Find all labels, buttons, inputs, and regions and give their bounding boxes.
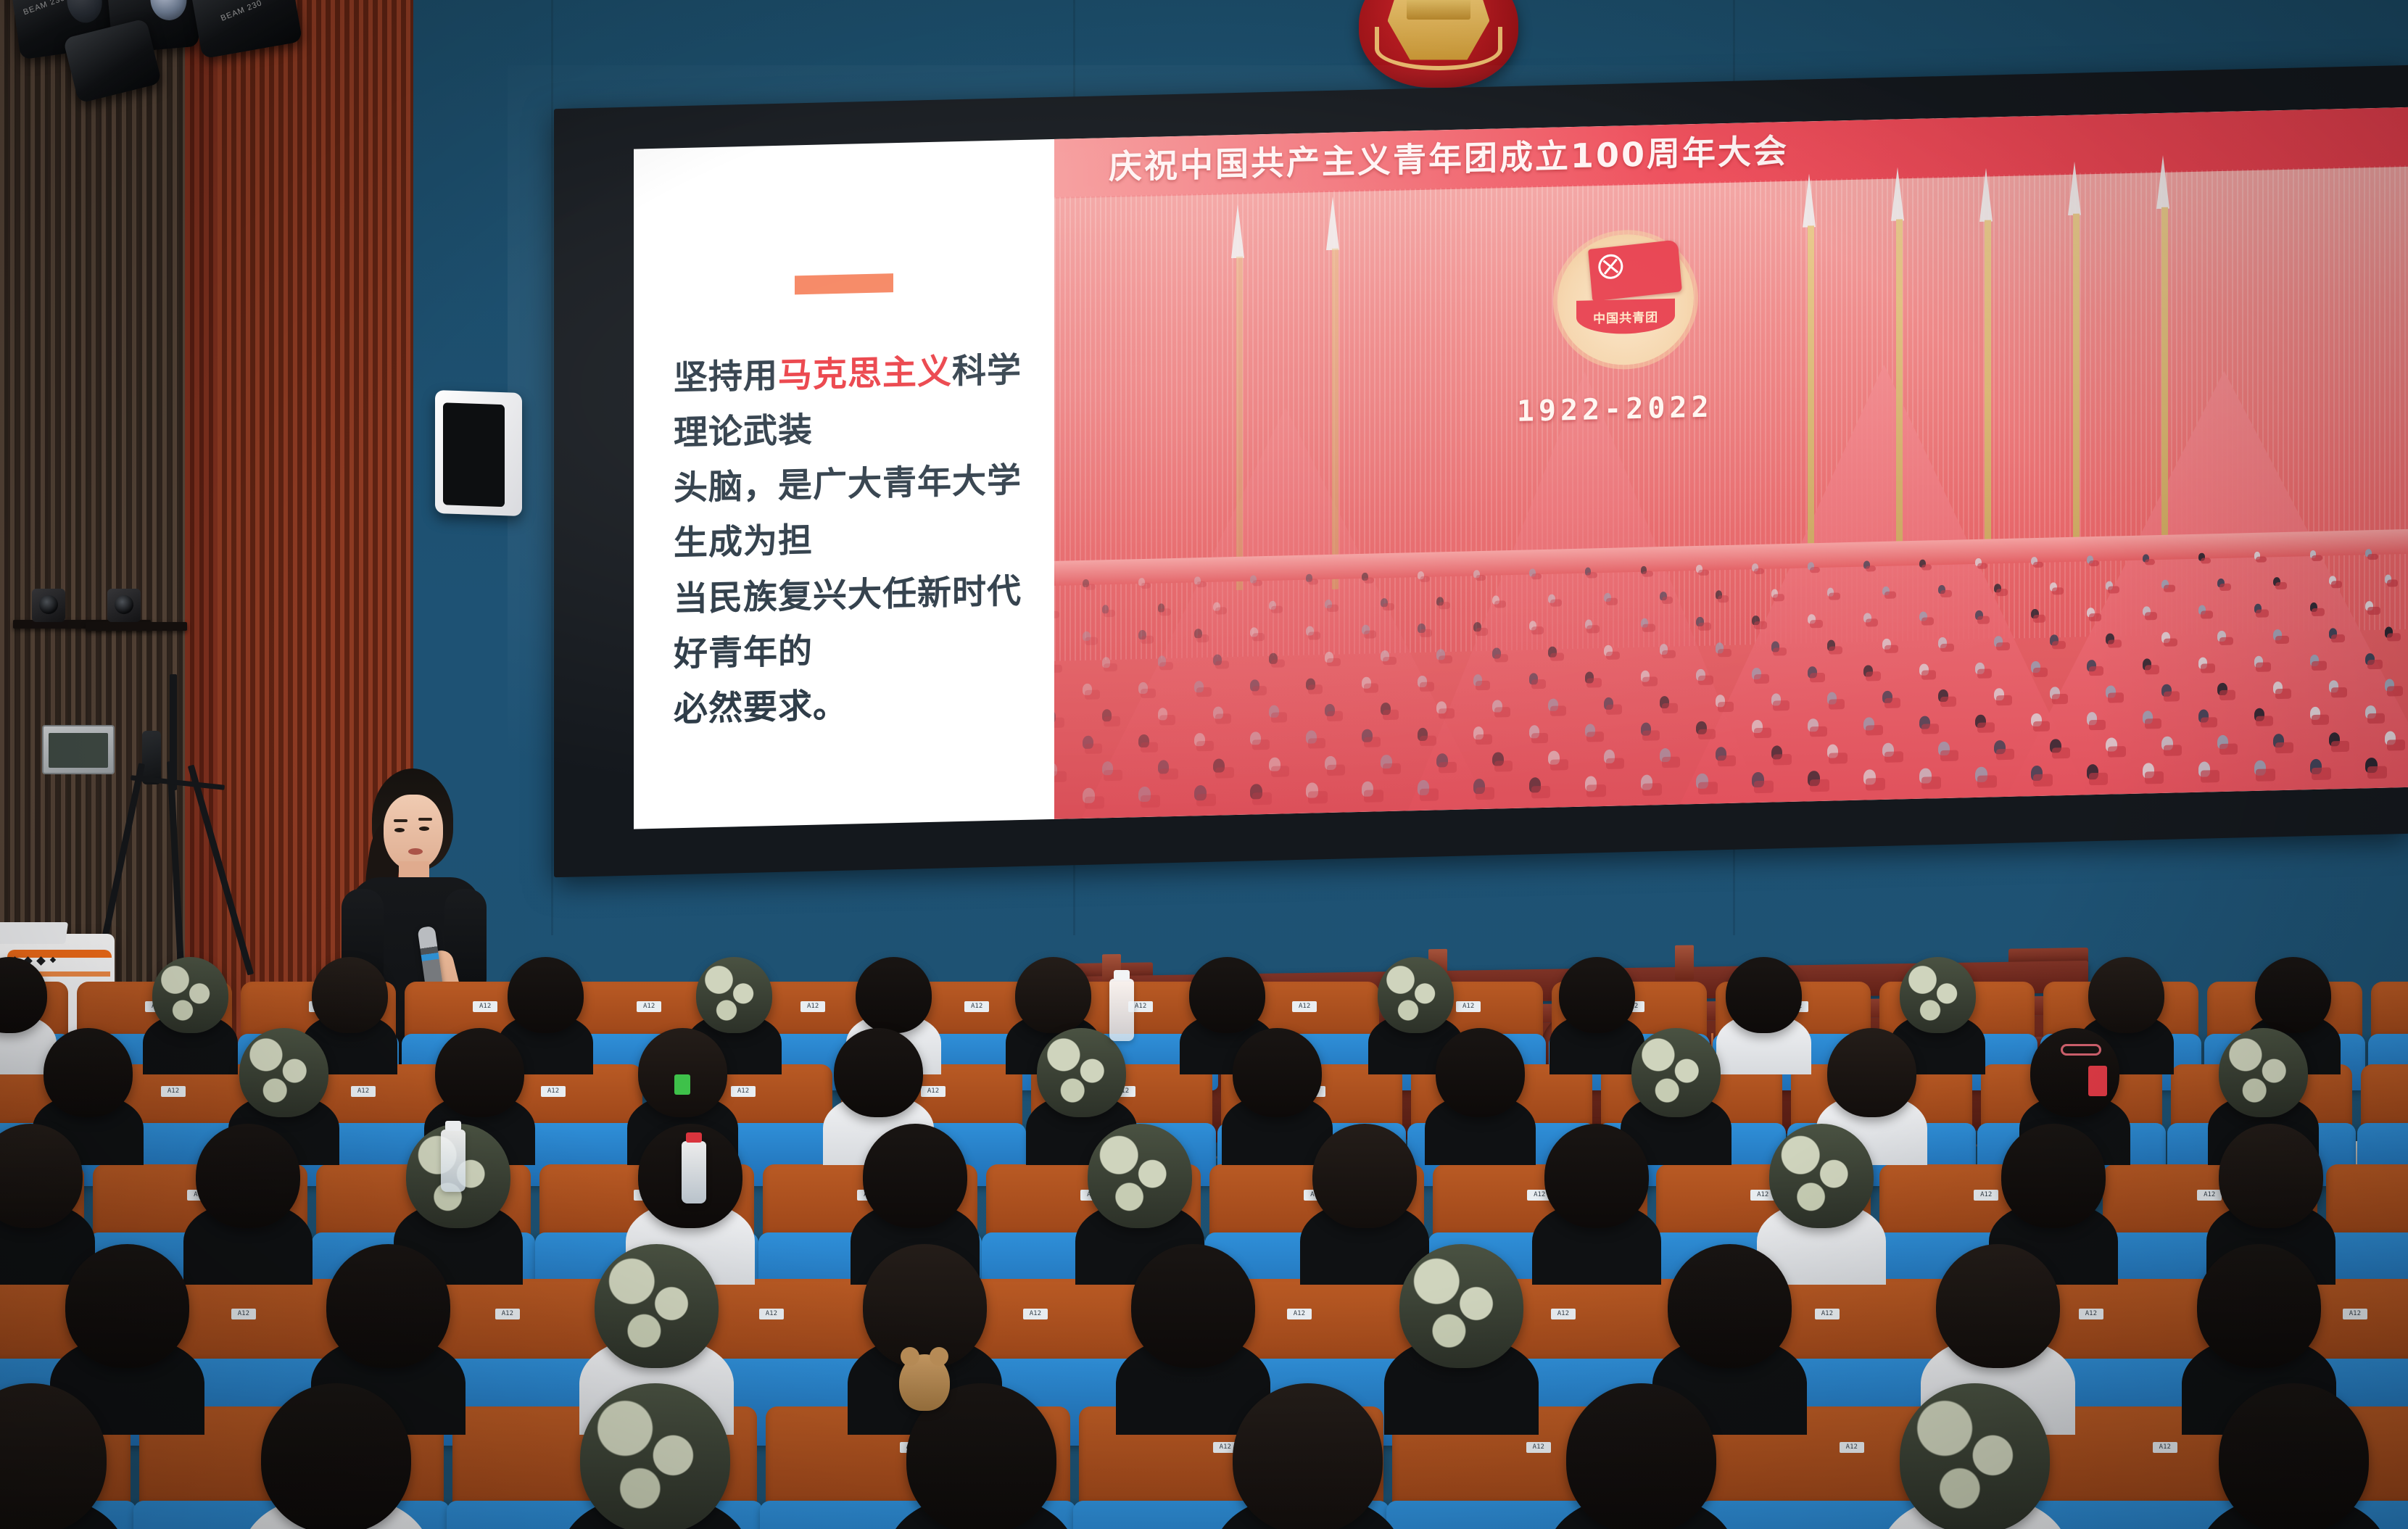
seat-number: A12 [473, 1001, 497, 1012]
attendee-head [2219, 1028, 2308, 1117]
attendee-head [2219, 1124, 2323, 1228]
attendee-head [239, 1028, 328, 1117]
presenter-face [384, 795, 443, 870]
seat-number: A12 [231, 1309, 256, 1319]
attendee-head [1233, 1028, 1322, 1117]
attendee-head [595, 1244, 719, 1368]
attendee-head [1436, 1028, 1525, 1117]
attendee-head [65, 1244, 189, 1368]
wall-control-panel[interactable] [42, 725, 115, 774]
seat-number: A12 [2197, 1190, 2222, 1201]
attendee-head [2088, 957, 2164, 1033]
slide-body-text: 坚持用马克思主义科学理论武装 头脑，是广大青年大学生成为担 当民族复兴大任新时代… [674, 342, 1051, 737]
attendee-head [44, 1028, 133, 1117]
attendee-head [2219, 1383, 2369, 1529]
wall-camera-icon [32, 589, 65, 622]
seat-number: A12 [1974, 1190, 1998, 1201]
attendee-head [1769, 1124, 1874, 1228]
projection-screen: 坚持用马克思主义科学理论武装 头脑，是广大青年大学生成为担 当民族复兴大任新时代… [554, 65, 2408, 877]
slide-accent-bar [795, 273, 893, 294]
attendee-head [1037, 1028, 1126, 1117]
attendee-head [1015, 957, 1091, 1033]
slide-line4: 必然要求。 [674, 674, 1051, 737]
slide-line2: 头脑，是广大青年大学生成为担 [674, 452, 1051, 572]
attendee-head [261, 1383, 411, 1529]
slide-line1-highlight: 马克思主义 [778, 352, 952, 396]
tripod-stand [109, 674, 276, 979]
attendee-head [1544, 1124, 1649, 1228]
seat-number: A12 [800, 1001, 825, 1012]
delegate-seating [1054, 548, 2408, 819]
wall-seam [551, 0, 553, 935]
seat-number: A12 [1526, 1442, 1551, 1453]
attendee-head [1399, 1244, 1523, 1368]
attendee-head [1559, 957, 1635, 1033]
seat-number: A12 [351, 1086, 376, 1097]
attendee-head [696, 957, 772, 1033]
eyeglasses-icon [2061, 1044, 2101, 1056]
seat-number: A12 [731, 1086, 756, 1097]
plush-toy[interactable] [899, 1354, 950, 1411]
attendee-head [196, 1124, 300, 1228]
cyl-emblem-icon: 中国共青团 [1557, 233, 1694, 366]
attendee-head [1631, 1028, 1721, 1117]
seat-number: A12 [921, 1086, 946, 1097]
national-emblem-icon [1359, 0, 1518, 88]
wall-camera-icon [107, 589, 141, 622]
attendee-head [863, 1244, 987, 1368]
attendee-head [508, 957, 584, 1033]
stage-light-fixture: BEAM 230 [188, 0, 303, 59]
audience-seating: A12A12A12A12A12A12A12A12A12A12A12A12A12A… [0, 986, 2408, 1529]
seat-number: A12 [964, 1001, 989, 1012]
seat-number: A12 [2153, 1442, 2177, 1453]
seat-number: A12 [495, 1309, 520, 1319]
seat-number: A12 [1815, 1309, 1840, 1319]
seat-number: A12 [1840, 1442, 1864, 1453]
attendee-head [152, 957, 228, 1033]
seat-number: A12 [2079, 1309, 2103, 1319]
stage-light-rig: BEAM 230 BEAM 230 [0, 0, 341, 112]
attendee-head [1900, 1383, 2050, 1529]
attendee-head [1131, 1244, 1255, 1368]
attendee-head [2001, 1124, 2106, 1228]
attendee-head [1088, 1124, 1192, 1228]
red-lanyard-tag [2088, 1066, 2107, 1096]
seat-number: A12 [1456, 1001, 1481, 1012]
seat-number: A12 [1023, 1309, 1048, 1319]
slide-line1-pre: 坚持用 [674, 356, 778, 398]
attendee-head [1233, 1383, 1383, 1529]
green-clip [674, 1074, 690, 1095]
camera-shelf [86, 622, 187, 631]
attendee-head [326, 1244, 450, 1368]
water-bottle[interactable] [682, 1141, 706, 1203]
seat-number: A12 [637, 1001, 661, 1012]
seat-number: A12 [759, 1309, 784, 1319]
fixture-label: BEAM 230 [220, 0, 264, 23]
seat-number: A12 [161, 1086, 186, 1097]
seat-number: A12 [1551, 1309, 1576, 1319]
attendee-head [2197, 1244, 2321, 1368]
attendee-head [2255, 957, 2331, 1033]
slide-surface: 坚持用马克思主义科学理论武装 头脑，是广大青年大学生成为担 当民族复兴大任新时代… [634, 107, 2408, 829]
anniversary-years: 1922-2022 [1517, 390, 1713, 428]
attendee-head [1936, 1244, 2060, 1368]
attendee-head [1900, 957, 1976, 1033]
attendee-head [1312, 1124, 1417, 1228]
seat-number: A12 [1292, 1001, 1317, 1012]
attendee-head [863, 1124, 967, 1228]
slide-line3: 当民族复兴大任新时代好青年的 [674, 563, 1051, 683]
wall-speaker-icon [435, 390, 522, 516]
attendee-head [1378, 957, 1454, 1033]
attendee-head [1827, 1028, 1916, 1117]
water-bottle[interactable] [441, 1130, 466, 1192]
attendee-head [435, 1028, 524, 1117]
fixture-label: BEAM 230 [22, 0, 67, 17]
attendee-head [1726, 957, 1802, 1033]
attendee-head [638, 1028, 727, 1117]
attendee-head [856, 957, 932, 1033]
auditorium-scene: BEAM 230 BEAM 230 坚持用马克思主义科学理论武装 头脑，是广大青… [0, 0, 2408, 1529]
attendee-head [312, 957, 388, 1033]
attendee-head [580, 1383, 730, 1529]
seat-number: A12 [1287, 1309, 1312, 1319]
slide-photo-great-hall: 庆祝中国共产主义青年团成立100周年大会 [1054, 107, 2408, 819]
seat-number: A12 [2343, 1309, 2367, 1319]
attendee-head [1189, 957, 1265, 1033]
attendee-head [834, 1028, 923, 1117]
attendee-head [1668, 1244, 1792, 1368]
water-bottle[interactable] [1109, 979, 1134, 1041]
seat-number: A12 [541, 1086, 566, 1097]
attendee-head [1566, 1383, 1716, 1529]
